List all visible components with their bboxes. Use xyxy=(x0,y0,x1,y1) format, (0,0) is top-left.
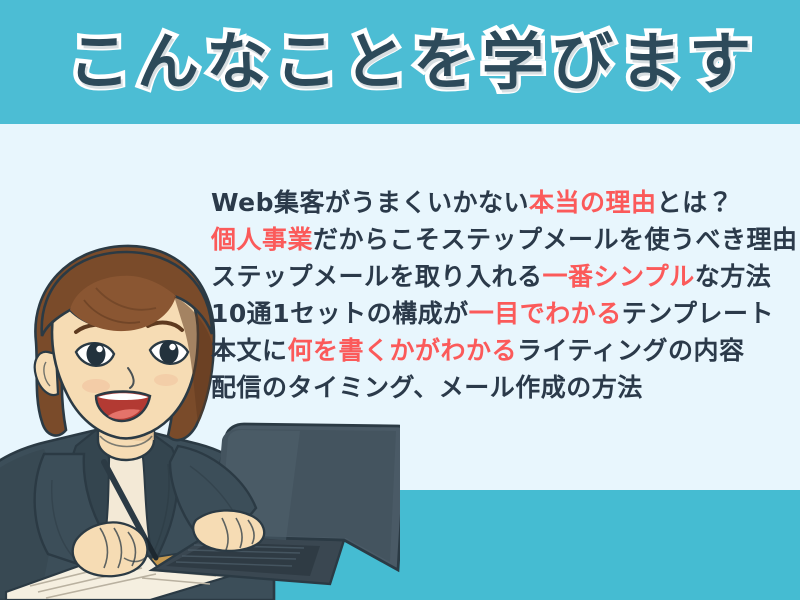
learning-point-1: Web集客がうまくいかない本当の理由とは？ xyxy=(211,184,771,221)
learning-point-2: 個人事業だからこそステップメールを使うべき理由 xyxy=(211,221,771,258)
learning-point-4: 10通1セットの構成が一目でわかるテンプレート xyxy=(211,295,771,332)
plain-text: Web集客がうまくいかない xyxy=(211,188,529,217)
learning-point-5: 本文に何を書くかがわかるライティングの内容 xyxy=(211,332,771,369)
page-title: こんなことを学びます xyxy=(68,24,768,100)
highlighted-text: 本当の理由 xyxy=(529,188,657,217)
learning-point-3: ステップメールを取り入れる一番シンプルな方法 xyxy=(211,258,771,295)
header-band: こんなことを学びます xyxy=(0,0,800,124)
right-hand-shape xyxy=(193,510,264,551)
plain-text: 配信のタイミング、メール作成の方法 xyxy=(211,373,643,402)
plain-text: 本文に xyxy=(211,336,288,365)
plain-text: ライティングの内容 xyxy=(517,336,745,365)
learning-point-6: 配信のタイミング、メール作成の方法 xyxy=(211,369,771,406)
highlighted-text: 一番シンプル xyxy=(543,262,695,291)
plain-text: な方法 xyxy=(695,262,772,291)
highlighted-text: 何を書くかがわかる xyxy=(288,336,518,365)
slide-canvas: こんなことを学びます Web集客がうまくいかない本当の理由とは？個人事業だからこ… xyxy=(0,0,800,600)
highlighted-text: 一目でわかる xyxy=(469,299,622,328)
plain-text: ステップメールを取り入れる xyxy=(211,262,543,291)
plain-text: とは？ xyxy=(657,188,734,217)
plain-text: 10通1セットの構成が xyxy=(211,299,469,328)
left-hand-shape xyxy=(73,522,148,576)
plain-text: テンプレート xyxy=(622,299,774,328)
learning-points-list: Web集客がうまくいかない本当の理由とは？個人事業だからこそステップメールを使う… xyxy=(211,184,771,406)
highlighted-text: 個人事業 xyxy=(211,225,313,254)
plain-text: だからこそステップメールを使うべき理由 xyxy=(313,225,798,254)
